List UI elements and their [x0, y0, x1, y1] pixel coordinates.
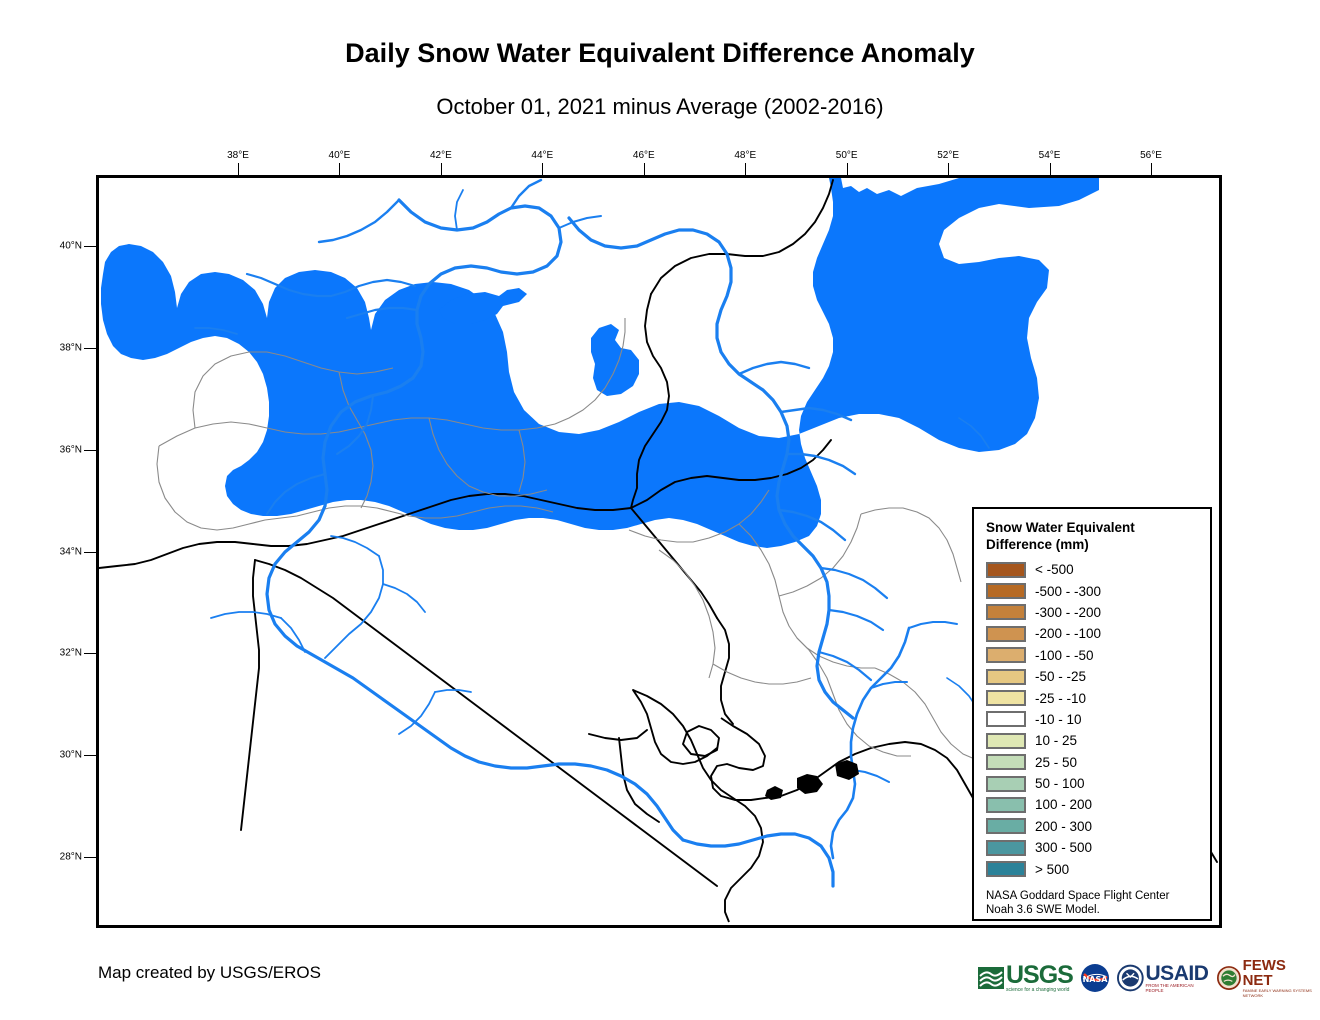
- legend-color-swatch: [986, 776, 1026, 792]
- page-subtitle: October 01, 2021 minus Average (2002-201…: [0, 94, 1320, 120]
- legend-title: Snow Water Equivalent Difference (mm): [986, 519, 1186, 553]
- legend-class-label: 50 - 100: [1035, 776, 1085, 791]
- latitude-tick: [84, 246, 96, 247]
- legend-row: -500 - -300: [986, 580, 1210, 601]
- legend-color-swatch: [986, 861, 1026, 877]
- legend-color-swatch: [986, 669, 1026, 685]
- latitude-tick-label: 32°N: [38, 648, 82, 659]
- longitude-tick: [1151, 163, 1152, 175]
- legend-class-label: > 500: [1035, 862, 1069, 877]
- legend-class-label: -10 - 10: [1035, 712, 1082, 727]
- legend-color-swatch: [986, 583, 1026, 599]
- legend-row: -10 - 10: [986, 709, 1210, 730]
- latitude-tick-label: 28°N: [38, 851, 82, 862]
- longitude-tick-label: 56°E: [1140, 150, 1162, 161]
- legend-class-label: -100 - -50: [1035, 648, 1094, 663]
- svg-text:NASA: NASA: [1082, 975, 1108, 984]
- fews-globe-icon: [1217, 964, 1241, 992]
- latitude-tick: [84, 450, 96, 451]
- usgs-logo: USGS science for a changing world: [978, 961, 1073, 995]
- usaid-seal-icon: [1117, 964, 1144, 992]
- latitude-tick: [84, 857, 96, 858]
- legend-class-list: < -500-500 - -300-300 - -200-200 - -100-…: [986, 559, 1210, 880]
- lake-urmia-waterbody: [591, 324, 639, 396]
- legend-row: -25 - -10: [986, 687, 1210, 708]
- fews-logo-tagline: FAMINE EARLY WARNING SYSTEMS NETWORK: [1243, 988, 1320, 998]
- latitude-tick: [84, 653, 96, 654]
- longitude-tick-label: 50°E: [836, 150, 858, 161]
- longitude-tick: [745, 163, 746, 175]
- longitude-tick: [644, 163, 645, 175]
- legend-color-swatch: [986, 840, 1026, 856]
- longitude-tick-label: 42°E: [430, 150, 452, 161]
- fews-logo-text: FEWS NET: [1243, 958, 1320, 988]
- map-credit: Map created by USGS/EROS: [98, 963, 321, 983]
- longitude-tick: [441, 163, 442, 175]
- legend-color-swatch: [986, 647, 1026, 663]
- legend-row: -300 - -200: [986, 602, 1210, 623]
- legend-color-swatch: [986, 626, 1026, 642]
- latitude-tick: [84, 755, 96, 756]
- latitude-tick: [84, 348, 96, 349]
- legend-class-label: 100 - 200: [1035, 797, 1092, 812]
- longitude-tick: [542, 163, 543, 175]
- legend-source-note: NASA Goddard Space Flight Center Noah 3.…: [986, 889, 1210, 917]
- legend-row: 10 - 25: [986, 730, 1210, 751]
- latitude-tick-label: 34°N: [38, 546, 82, 557]
- legend-color-swatch: [986, 604, 1026, 620]
- legend-color-swatch: [986, 733, 1026, 749]
- legend-class-label: 300 - 500: [1035, 840, 1092, 855]
- legend-color-swatch: [986, 562, 1026, 578]
- agency-logo-bar: USGS science for a changing world NASA U…: [978, 958, 1320, 998]
- longitude-tick-label: 44°E: [531, 150, 553, 161]
- legend-row: 300 - 500: [986, 837, 1210, 858]
- legend-row: 100 - 200: [986, 794, 1210, 815]
- latitude-tick-label: 30°N: [38, 750, 82, 761]
- legend-row: 200 - 300: [986, 816, 1210, 837]
- longitude-tick-label: 46°E: [633, 150, 655, 161]
- legend-row: -200 - -100: [986, 623, 1210, 644]
- legend-row: 50 - 100: [986, 773, 1210, 794]
- legend-color-swatch: [986, 690, 1026, 706]
- legend-color-swatch: [986, 818, 1026, 834]
- usaid-logo: USAID FROM THE AMERICAN PEOPLE: [1117, 961, 1210, 995]
- latitude-tick-label: 40°N: [38, 241, 82, 252]
- legend-class-label: -500 - -300: [1035, 584, 1101, 599]
- legend-row: -100 - -50: [986, 645, 1210, 666]
- latitude-tick: [84, 552, 96, 553]
- nasa-meatball-icon: NASA: [1080, 963, 1110, 993]
- legend-class-label: 25 - 50: [1035, 755, 1077, 770]
- legend-class-label: 10 - 25: [1035, 733, 1077, 748]
- page-title: Daily Snow Water Equivalent Difference A…: [0, 38, 1320, 69]
- map-legend: Snow Water Equivalent Difference (mm) < …: [972, 507, 1212, 921]
- longitude-tick-label: 48°E: [734, 150, 756, 161]
- usgs-wave-icon: [978, 967, 1004, 989]
- legend-color-swatch: [986, 711, 1026, 727]
- usgs-logo-tagline: science for a changing world: [1006, 987, 1073, 993]
- legend-row: 25 - 50: [986, 752, 1210, 773]
- latitude-tick-label: 36°N: [38, 444, 82, 455]
- legend-row: < -500: [986, 559, 1210, 580]
- longitude-tick: [948, 163, 949, 175]
- longitude-tick: [238, 163, 239, 175]
- longitude-tick-label: 40°E: [329, 150, 351, 161]
- longitude-tick: [339, 163, 340, 175]
- nasa-logo: NASA: [1080, 961, 1110, 995]
- fews-logo: FEWS NET FAMINE EARLY WARNING SYSTEMS NE…: [1217, 961, 1320, 995]
- legend-class-label: -200 - -100: [1035, 626, 1101, 641]
- longitude-tick-label: 54°E: [1039, 150, 1061, 161]
- legend-color-swatch: [986, 754, 1026, 770]
- usgs-logo-text: USGS: [1006, 964, 1073, 987]
- latitude-tick-label: 38°N: [38, 342, 82, 353]
- legend-class-label: -300 - -200: [1035, 605, 1101, 620]
- legend-row: > 500: [986, 858, 1210, 879]
- mesopotamian-marshes: [765, 760, 859, 800]
- longitude-tick-label: 52°E: [937, 150, 959, 161]
- legend-color-swatch: [986, 797, 1026, 813]
- legend-class-label: -50 - -25: [1035, 669, 1086, 684]
- legend-class-label: -25 - -10: [1035, 691, 1086, 706]
- legend-class-label: 200 - 300: [1035, 819, 1092, 834]
- longitude-tick-label: 38°E: [227, 150, 249, 161]
- longitude-tick: [847, 163, 848, 175]
- legend-row: -50 - -25: [986, 666, 1210, 687]
- usaid-logo-text: USAID: [1146, 964, 1210, 983]
- longitude-tick: [1050, 163, 1051, 175]
- legend-class-label: < -500: [1035, 562, 1074, 577]
